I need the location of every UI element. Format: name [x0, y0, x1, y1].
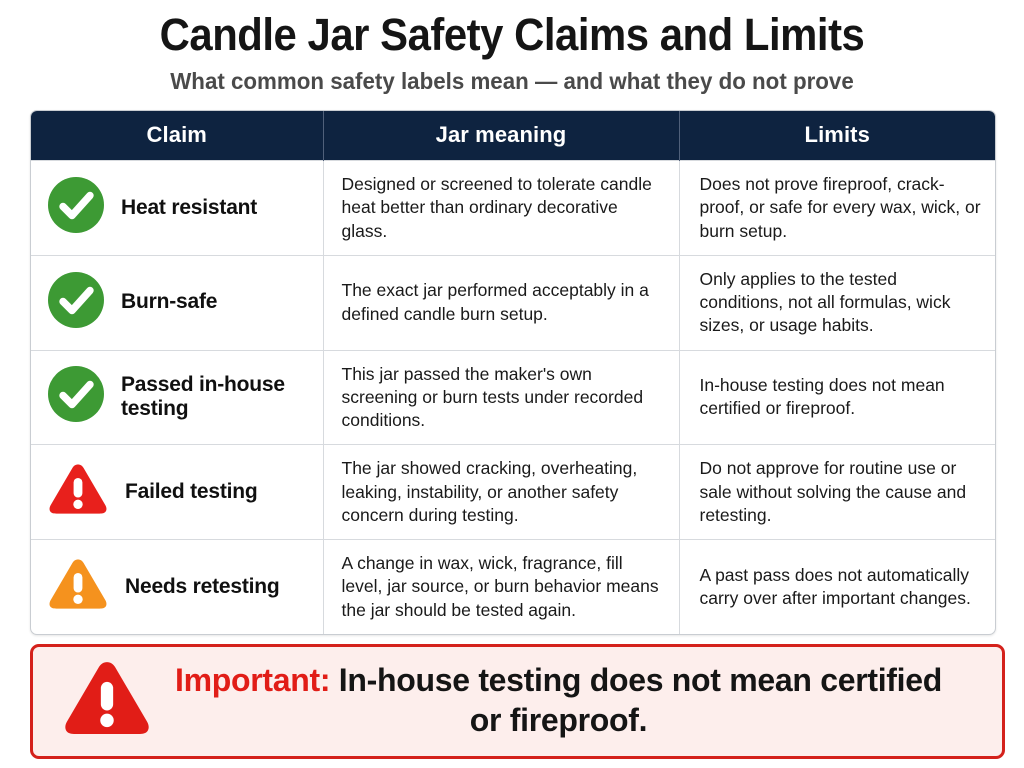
claim-cell: Heat resistant	[31, 161, 323, 256]
claim-cell: Passed in-house testing	[31, 350, 323, 445]
claim-label: Passed in-house testing	[121, 373, 315, 423]
claim-label: Failed testing	[125, 480, 258, 505]
claim-cell: Burn-safe	[31, 255, 323, 350]
table-header: Claim Jar meaning Limits	[31, 111, 995, 161]
page-title: Candle Jar Safety Claims and Limits	[36, 0, 988, 61]
limits-cell: In-house testing does not mean certified…	[679, 350, 995, 445]
claim-label: Heat resistant	[121, 196, 257, 221]
page-subtitle: What common safety labels mean — and wha…	[26, 61, 999, 95]
limits-cell: Do not approve for routine use or sale w…	[679, 445, 995, 540]
jar-meaning-cell: Designed or screened to tolerate candle …	[323, 161, 679, 256]
claim-cell: Failed testing	[31, 445, 323, 540]
claims-table-container: Claim Jar meaning Limits	[30, 110, 996, 635]
table-header-row: Claim Jar meaning Limits	[31, 111, 995, 161]
limits-cell: Only applies to the tested conditions, n…	[679, 255, 995, 350]
column-header-claim: Claim	[31, 111, 323, 161]
green-check-circle-icon	[47, 365, 105, 429]
orange-warning-triangle-icon	[47, 556, 109, 618]
jar-meaning-cell: A change in wax, wick, fragrance, fill l…	[323, 540, 679, 634]
table-row: Burn-safe The exact jar performed accept…	[31, 255, 995, 350]
jar-meaning-cell: The exact jar performed acceptably in a …	[323, 255, 679, 350]
table-row: Heat resistant Designed or screened to t…	[31, 161, 995, 256]
green-check-circle-icon	[47, 271, 105, 335]
table-row: Failed testing The jar showed cracking, …	[31, 445, 995, 540]
jar-meaning-cell: This jar passed the maker's own screenin…	[323, 350, 679, 445]
infographic-page: Candle Jar Safety Claims and Limits What…	[0, 0, 1024, 768]
red-warning-triangle-icon	[61, 657, 153, 744]
green-check-circle-icon	[47, 176, 105, 240]
claims-table: Claim Jar meaning Limits	[31, 111, 995, 634]
column-header-limits: Limits	[679, 111, 995, 161]
table-row: Passed in-house testing This jar passed …	[31, 350, 995, 445]
limits-cell: Does not prove fireproof, crack-proof, o…	[679, 161, 995, 256]
claim-cell: Needs retesting	[31, 540, 323, 634]
banner-keyword: Important:	[175, 662, 330, 698]
red-warning-triangle-icon	[47, 461, 109, 523]
important-callout-banner: Important: In-house testing does not mea…	[30, 644, 1005, 759]
jar-meaning-cell: The jar showed cracking, overheating, le…	[323, 445, 679, 540]
banner-message: In-house testing does not mean certified…	[339, 662, 942, 737]
table-body: Heat resistant Designed or screened to t…	[31, 161, 995, 634]
claim-label: Burn-safe	[121, 290, 217, 315]
claim-label: Needs retesting	[125, 575, 280, 600]
table-row: Needs retesting A change in wax, wick, f…	[31, 540, 995, 634]
column-header-jar-meaning: Jar meaning	[323, 111, 679, 161]
banner-text: Important: In-house testing does not mea…	[163, 661, 984, 739]
limits-cell: A past pass does not automatically carry…	[679, 540, 995, 634]
